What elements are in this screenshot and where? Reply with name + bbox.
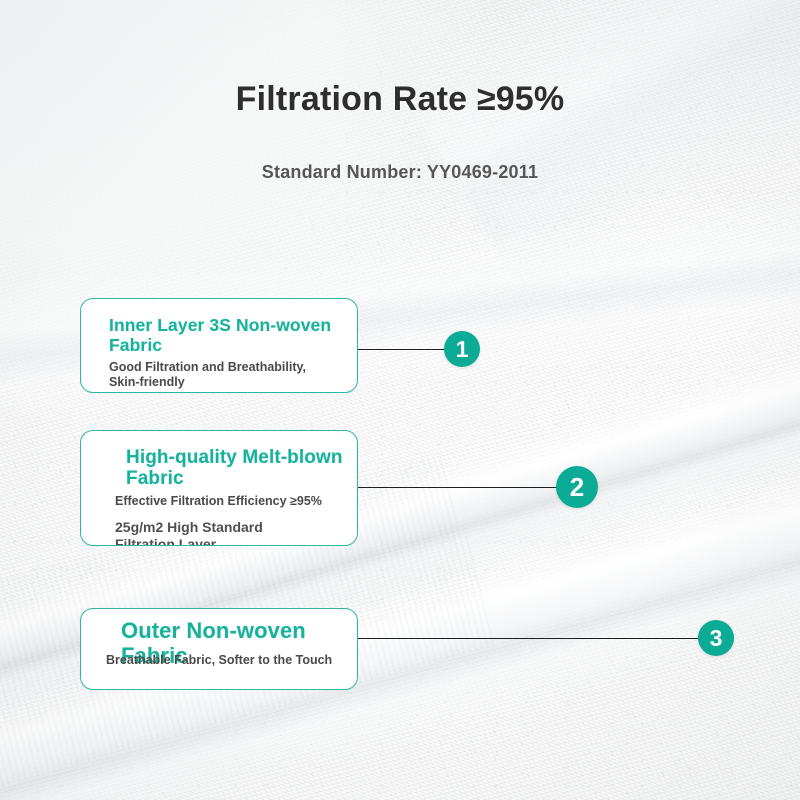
callout-heading-1: Inner Layer 3S Non-woven Fabric bbox=[109, 316, 331, 355]
callout-box-meltblown-layer[interactable]: High-quality Melt-blown Fabric Effective… bbox=[80, 430, 358, 546]
callout-box-inner-layer[interactable]: Inner Layer 3S Non-woven Fabric Good Fil… bbox=[80, 298, 358, 393]
infographic-canvas: Filtration Rate ≥95% Standard Number: YY… bbox=[0, 0, 800, 800]
connector-line-2 bbox=[358, 487, 563, 488]
page-title: Filtration Rate ≥95% bbox=[0, 80, 800, 119]
callout-subtext-2-line-1: Effective Filtration Efficiency ≥95% bbox=[115, 494, 322, 509]
callout-box-content: High-quality Melt-blown Fabric Effective… bbox=[81, 431, 357, 545]
layer-marker-2[interactable]: 2 bbox=[556, 466, 598, 508]
callout-box-outer-layer[interactable]: Outer Non-woven Fabric Breathable Fabric… bbox=[80, 608, 358, 690]
callout-subtext-1: Good Filtration and Breathability, Skin-… bbox=[109, 360, 306, 390]
callout-subtext-2-line-2: 25g/m2 High Standard Filtration Layer bbox=[115, 519, 263, 546]
connector-line-3 bbox=[358, 638, 703, 639]
callout-heading-2: High-quality Melt-blown Fabric bbox=[126, 447, 343, 490]
callout-box-content: Inner Layer 3S Non-woven Fabric Good Fil… bbox=[81, 299, 357, 392]
callout-subtext-3: Breathable Fabric, Softer to the Touch bbox=[106, 653, 332, 668]
layer-marker-1[interactable]: 1 bbox=[444, 331, 480, 367]
page-subtitle: Standard Number: YY0469-2011 bbox=[0, 162, 800, 183]
layer-marker-3[interactable]: 3 bbox=[698, 620, 734, 656]
callout-box-content: Outer Non-woven Fabric Breathable Fabric… bbox=[81, 609, 357, 689]
